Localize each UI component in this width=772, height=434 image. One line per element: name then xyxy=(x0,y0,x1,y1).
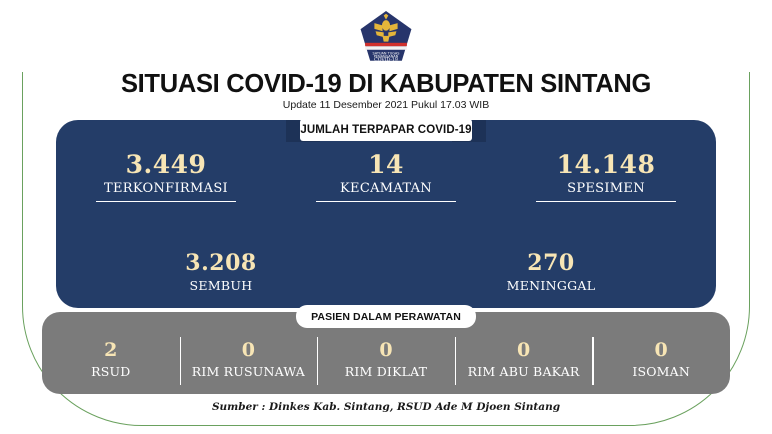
stats-row-primary: 3.449 TERKONFIRMASI 14 KECAMATAN 14.148 … xyxy=(56,152,716,224)
stat-meninggal: 270 MENINGGAL xyxy=(386,252,716,312)
facility-label: RSUD xyxy=(91,364,130,379)
stat-label: TERKONFIRMASI xyxy=(104,181,228,196)
stat-value: 3.208 xyxy=(185,252,256,275)
source-attribution: Sumber : Dinkes Kab. Sintang, RSUD Ade M… xyxy=(0,401,772,413)
stat-underline xyxy=(96,201,236,202)
banner-pasien-dalam-perawatan: PASIEN DALAM PERAWATAN xyxy=(296,305,476,328)
stat-value: 14 xyxy=(368,152,404,178)
facility-label: RIM DIKLAT xyxy=(345,364,427,379)
facility-label: ISOMAN xyxy=(632,364,690,379)
facility-rsud: 2 RSUD xyxy=(42,327,180,379)
stat-label: MENINGGAL xyxy=(507,278,596,293)
facility-rim-rusunawa: 0 RIM RUSUNAWA xyxy=(180,327,318,379)
facility-isoman: 0 ISOMAN xyxy=(592,327,730,379)
satgas-covid19-emblem-icon: SATUAN TUGAS PENANGANAN COVID-19 xyxy=(357,8,415,66)
stats-row-secondary: 3.208 SEMBUH 270 MENINGGAL xyxy=(56,252,716,312)
stat-underline xyxy=(316,201,456,202)
stat-label: KECAMATAN xyxy=(340,181,432,196)
stat-sembuh: 3.208 SEMBUH xyxy=(56,252,386,312)
facility-count: 2 xyxy=(104,341,117,360)
logo-container: SATUAN TUGAS PENANGANAN COVID-19 xyxy=(0,8,772,66)
update-timestamp: Update 11 Desember 2021 Pukul 17.03 WIB xyxy=(0,99,772,111)
facility-count: 0 xyxy=(242,341,255,360)
stat-terkonfirmasi: 3.449 TERKONFIRMASI xyxy=(56,152,276,224)
facility-rim-abu-bakar: 0 RIM ABU BAKAR xyxy=(455,327,593,379)
stat-kecamatan: 14 KECAMATAN xyxy=(276,152,496,224)
infographic-root: SATUAN TUGAS PENANGANAN COVID-19 SITUASI… xyxy=(0,0,772,434)
facility-count: 0 xyxy=(655,341,668,360)
stat-underline xyxy=(536,201,676,202)
stat-label: SEMBUH xyxy=(190,278,253,293)
stat-value: 270 xyxy=(527,252,574,275)
banner-jumlah-terpapar: JUMLAH TERPAPAR COVID-19 xyxy=(300,119,472,141)
svg-text:COVID-19: COVID-19 xyxy=(374,57,398,63)
facility-count: 0 xyxy=(379,341,392,360)
stat-spesimen: 14.148 SPESIMEN xyxy=(496,152,716,224)
stat-value: 14.148 xyxy=(557,152,656,178)
facility-label: RIM RUSUNAWA xyxy=(192,364,305,379)
stat-label: SPESIMEN xyxy=(567,181,645,196)
facility-label: RIM ABU BAKAR xyxy=(468,364,580,379)
stat-value: 3.449 xyxy=(126,152,207,178)
facility-count: 0 xyxy=(517,341,530,360)
page-title: SITUASI COVID-19 DI KABUPATEN SINTANG xyxy=(0,70,772,99)
facility-rim-diklat: 0 RIM DIKLAT xyxy=(317,327,455,379)
